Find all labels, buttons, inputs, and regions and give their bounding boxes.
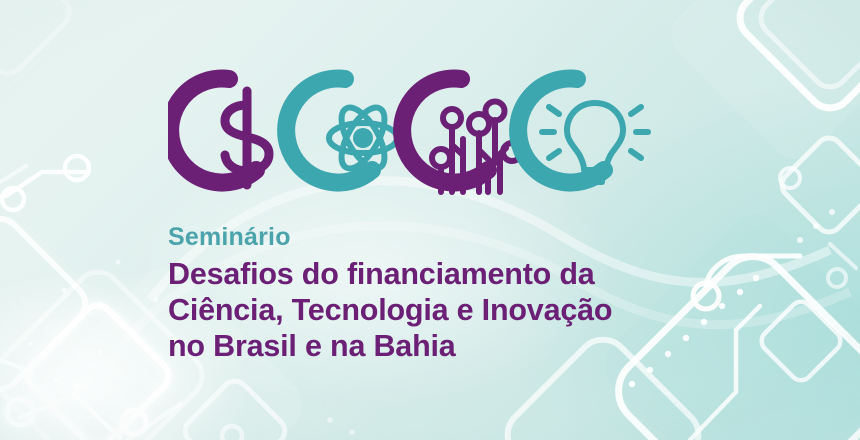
circuit-tree-icon — [452, 120, 506, 192]
icon-technology — [402, 79, 521, 192]
title-block: Seminário Desafios do financiamento da C… — [168, 222, 728, 364]
atom-nucleus-icon — [353, 128, 373, 148]
icon-innovation — [518, 79, 648, 183]
event-type-label: Seminário — [168, 222, 728, 252]
icon-finance — [170, 79, 269, 185]
icon-science — [286, 79, 397, 183]
lightbulb-icon — [567, 103, 623, 182]
seminar-banner: Seminário Desafios do financiamento da C… — [0, 0, 860, 440]
icon-row — [168, 60, 658, 200]
sparkle-group — [28, 342, 101, 382]
page-title: Desafios do financiamento da Ciência, Te… — [168, 256, 728, 364]
dollar-sign-icon — [225, 91, 269, 185]
lightbulb-rays-icon — [542, 107, 648, 158]
